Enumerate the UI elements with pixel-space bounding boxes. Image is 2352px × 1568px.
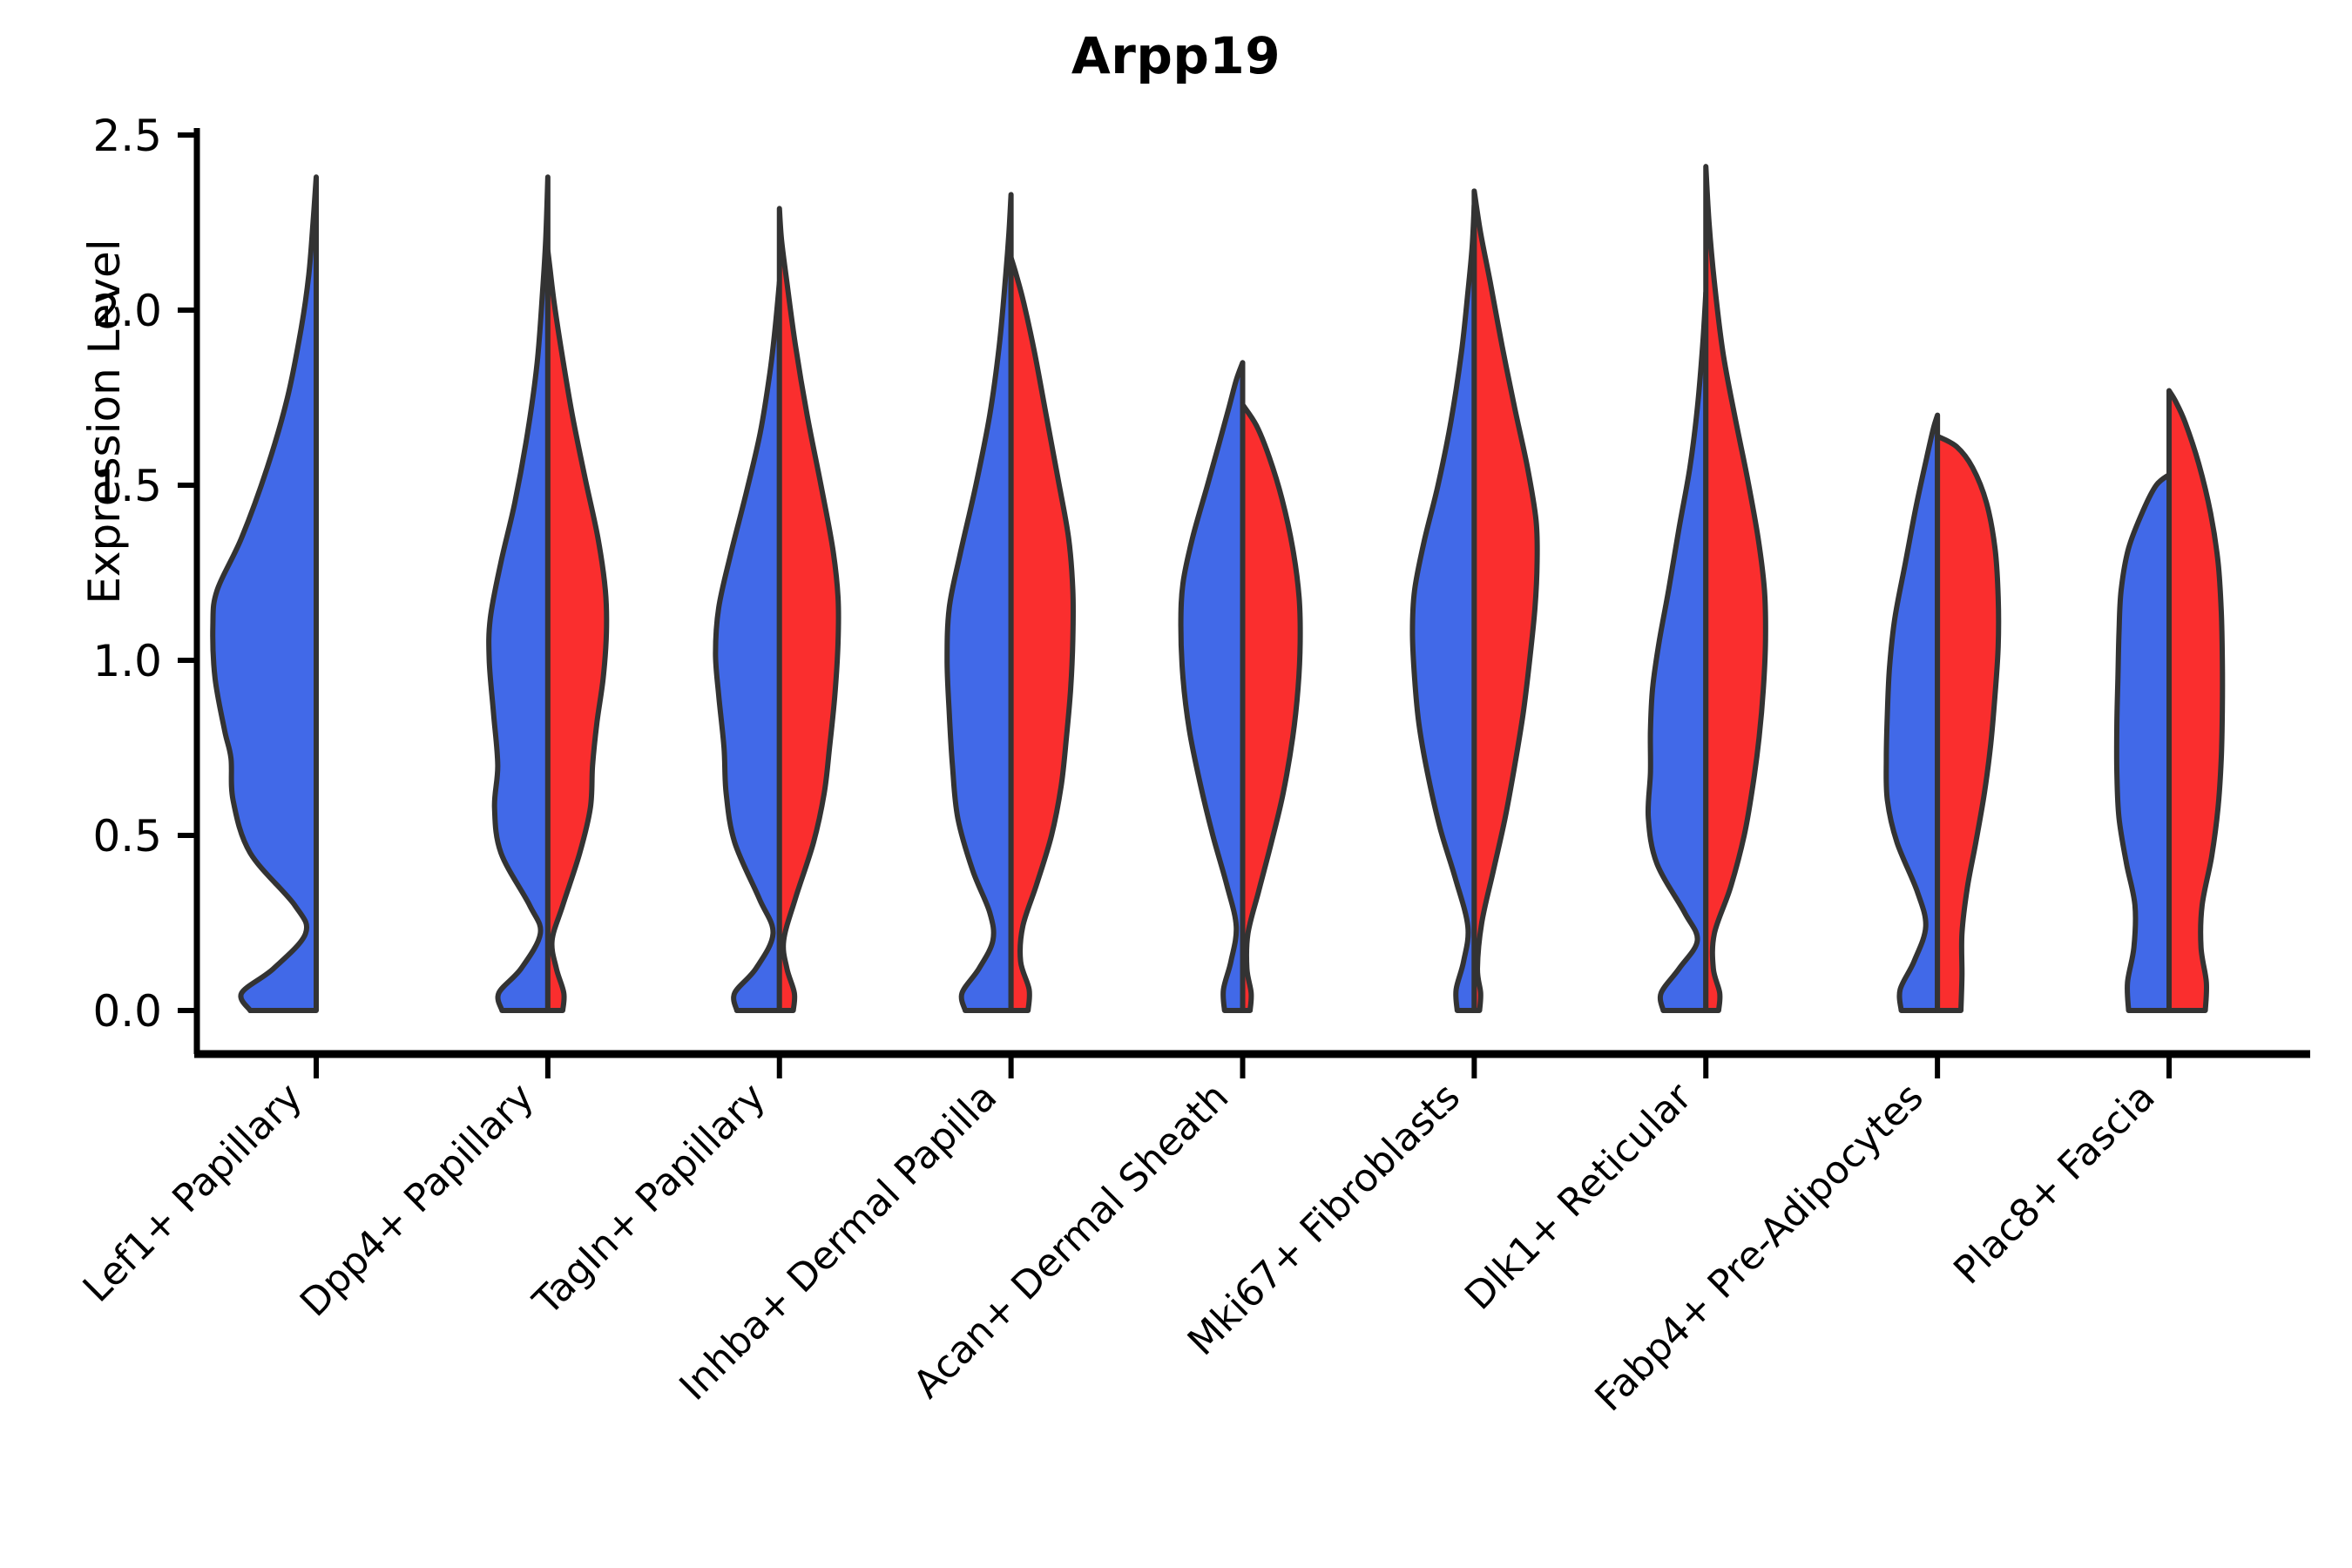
violin-blue-2	[715, 282, 779, 1010]
y-tick-label-5: 2.5	[92, 111, 162, 161]
violin-blue-4	[1181, 362, 1243, 1010]
y-tick-labels: 0.00.51.01.52.02.5	[92, 111, 162, 1037]
violin-blue-0	[213, 177, 316, 1010]
violin-blue-5	[1412, 205, 1474, 1010]
y-tick-label-1: 0.5	[92, 811, 162, 862]
violin-red-2	[780, 208, 839, 1010]
violin-chart-canvas: 0.00.51.01.52.02.5 Lef1+ PapillaryDpp4+ …	[0, 0, 2352, 1568]
x-tick-label-6: Dlk1+ Reticular	[1456, 1074, 1701, 1319]
violin-plot-figure: Arpp19 Expression Level 0.00.51.01.52.02…	[0, 0, 2352, 1568]
y-tick-label-3: 1.5	[92, 461, 162, 511]
violin-red-7	[1937, 436, 1998, 1010]
violin-red-4	[1243, 405, 1301, 1010]
x-tick-label-1: Dpp4+ Papillary	[292, 1075, 543, 1326]
y-tick-label-0: 0.0	[92, 986, 162, 1037]
violin-blue-1	[489, 177, 548, 1010]
x-tick-label-0: Lef1+ Papillary	[75, 1075, 311, 1311]
violin-blue-6	[1648, 293, 1706, 1010]
violin-blue-8	[2117, 475, 2169, 1010]
x-tick-labels: Lef1+ PapillaryDpp4+ PapillaryTagIn+ Pap…	[75, 1074, 2164, 1420]
violins-layer	[213, 166, 2222, 1010]
violin-red-8	[2169, 390, 2222, 1010]
violin-red-1	[548, 251, 606, 1010]
violin-red-6	[1706, 166, 1766, 1010]
x-tick-label-2: TagIn+ Papillary	[524, 1075, 774, 1325]
y-tick-label-2: 1.0	[92, 636, 162, 686]
y-tick-label-4: 2.0	[92, 286, 162, 336]
violin-red-5	[1474, 191, 1537, 1010]
violin-blue-7	[1886, 416, 1937, 1010]
x-tick-label-8: Plac8+ Fascia	[1945, 1075, 2164, 1294]
violin-red-3	[1011, 258, 1073, 1010]
violin-blue-3	[947, 194, 1010, 1010]
